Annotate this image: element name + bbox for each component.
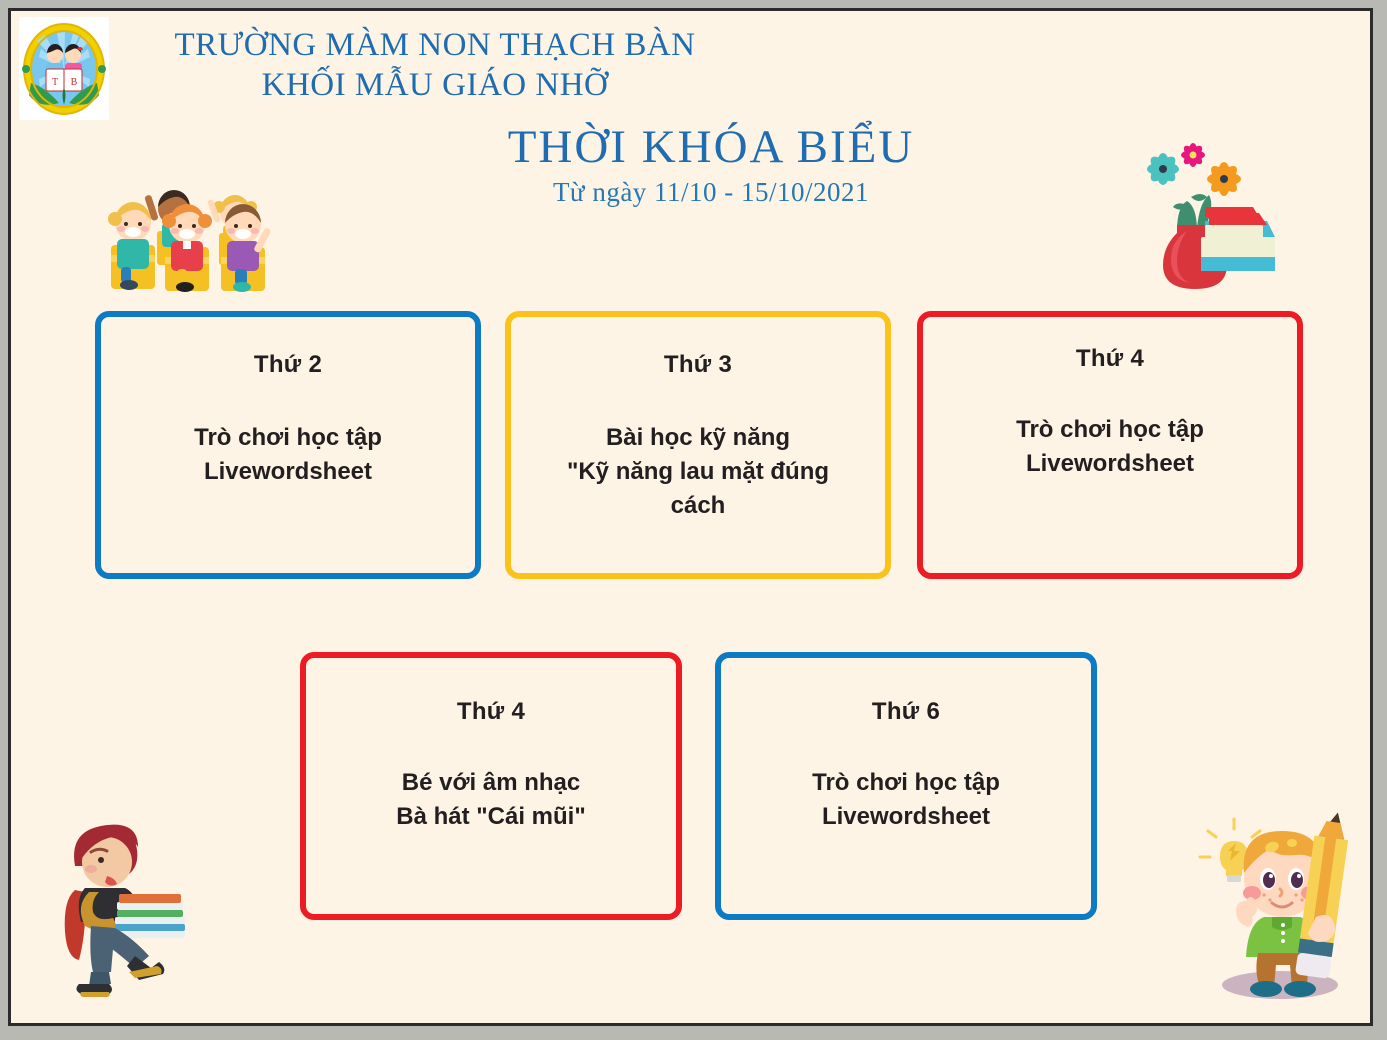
- card-activity-line: Livewordsheet: [937, 447, 1283, 481]
- card-activity-line: Bé với âm nhạc: [320, 766, 662, 800]
- page-title: THỜI KHÓA BIỂU: [391, 119, 1031, 175]
- card-activity-text: Bài học kỹ năng "Kỹ năng lau mặt đúng cá…: [525, 421, 871, 523]
- card-day-label: Thứ 4: [306, 698, 676, 726]
- svg-text:B: B: [71, 77, 78, 88]
- card-activity-text: Trò chơi học tập Livewordsheet: [115, 421, 461, 489]
- card-activity-line: "Kỹ năng lau mặt đúng: [525, 455, 871, 489]
- card-day-label: Thứ 2: [101, 351, 475, 379]
- card-activity-line: Trò chơi học tập: [115, 421, 461, 455]
- card-day-label: Thứ 4: [923, 345, 1297, 373]
- boy-with-pencil-and-lightbulb-illustration: [1196, 801, 1364, 1006]
- title-block: THỜI KHÓA BIỂU Từ ngày 11/10 - 15/10/202…: [391, 119, 1031, 209]
- svg-text:T: T: [52, 77, 58, 88]
- card-activity-line: Trò chơi học tập: [735, 766, 1077, 800]
- schedule-card-thu-3[interactable]: Thứ 3 Bài học kỹ năng "Kỹ năng lau mặt đ…: [505, 311, 891, 579]
- card-activity-line: Livewordsheet: [115, 455, 461, 489]
- schedule-card-thu-2[interactable]: Thứ 2 Trò chơi học tập Livewordsheet: [95, 311, 481, 579]
- poster-frame: T B TRƯỜNG MÀM NON THẠCH BÀN KHỐI MẪU GI…: [8, 8, 1373, 1026]
- card-activity-text: Trò chơi học tập Livewordsheet: [735, 766, 1077, 834]
- card-activity-text: Trò chơi học tập Livewordsheet: [937, 413, 1283, 481]
- boy-carrying-books-illustration: [45, 806, 205, 1006]
- schedule-card-thu-4-b[interactable]: Thứ 4 Bé với âm nhạc Bà hát "Cái mũi": [300, 652, 682, 920]
- card-activity-line: Bài học kỹ năng: [525, 421, 871, 455]
- happy-children-on-chairs-illustration: [99, 159, 299, 304]
- schedule-card-thu-4-a[interactable]: Thứ 4 Trò chơi học tập Livewordsheet: [917, 311, 1303, 579]
- card-activity-text: Bé với âm nhạc Bà hát "Cái mũi": [320, 766, 662, 834]
- card-activity-line: Livewordsheet: [735, 800, 1077, 834]
- school-name-block: TRƯỜNG MÀM NON THẠCH BÀN KHỐI MẪU GIÁO N…: [115, 25, 755, 105]
- card-day-label: Thứ 6: [721, 698, 1091, 726]
- card-day-label: Thứ 3: [511, 351, 885, 379]
- date-range-subtitle: Từ ngày 11/10 - 15/10/2021: [391, 175, 1031, 209]
- school-name-line-2: KHỐI MẪU GIÁO NHỠ: [115, 65, 755, 105]
- card-activity-line: cách: [525, 489, 871, 523]
- school-logo: T B: [19, 17, 109, 120]
- school-name-line-1: TRƯỜNG MÀM NON THẠCH BÀN: [115, 25, 755, 65]
- flower-vase-and-books-illustration: [1131, 139, 1301, 299]
- schedule-card-thu-6[interactable]: Thứ 6 Trò chơi học tập Livewordsheet: [715, 652, 1097, 920]
- card-activity-line: Trò chơi học tập: [937, 413, 1283, 447]
- card-activity-line: Bà hát "Cái mũi": [320, 800, 662, 834]
- school-logo-emblem: T B: [19, 17, 109, 120]
